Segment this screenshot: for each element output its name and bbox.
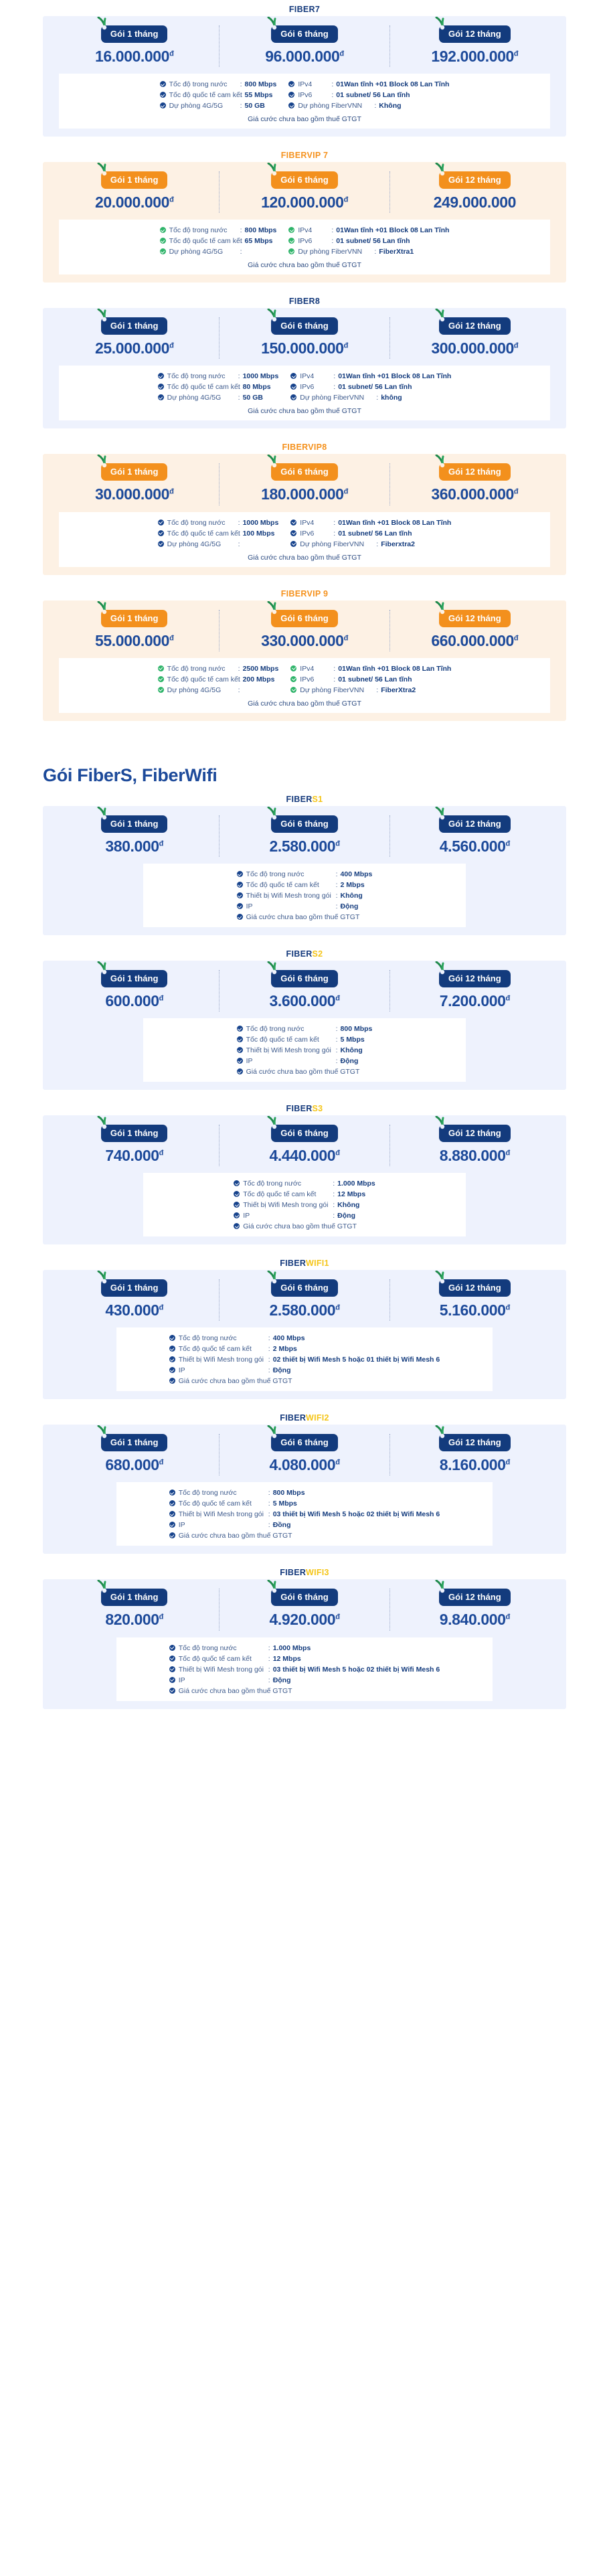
- price-row: Gói 1 tháng 600.000đ Gói 6 tháng 3.600.0…: [43, 967, 566, 1012]
- check-icon: [237, 1047, 243, 1053]
- plan-title-fibervip7: FIBERVIP 7: [0, 146, 609, 162]
- feature-separator: :: [370, 247, 379, 256]
- price-amount: 8.160.000đ: [440, 1457, 510, 1473]
- term-badge[interactable]: Gói 12 tháng: [439, 815, 511, 833]
- term-badge-wrap: Gói 6 tháng: [271, 610, 338, 627]
- feature-label: Dự phòng 4G/5G: [167, 393, 234, 402]
- plan-title-fiberwifi2: FIBERWIFI2: [0, 1408, 609, 1425]
- term-badge-wrap: Gói 12 tháng: [439, 25, 511, 43]
- feature-separator: :: [236, 226, 245, 235]
- check-icon: [158, 541, 164, 547]
- feature-value: 50 GB: [243, 393, 263, 402]
- feature-label: Giá cước chưa bao gồm thuế GTGT: [246, 1067, 360, 1076]
- feature-row: Tốc độ trong nước : 400 Mbps: [169, 1334, 440, 1343]
- currency-symbol: đ: [506, 1459, 510, 1467]
- price-amount: 600.000đ: [105, 993, 163, 1009]
- plan-section-fibers1: FIBERS1 Gói 1 tháng 380.000đ Gói 6 tháng…: [0, 790, 609, 935]
- check-icon: [237, 882, 243, 888]
- check-icon: [160, 92, 166, 98]
- feature-grid: Tốc độ trong nước : 400 Mbps Tốc độ quốc…: [116, 1334, 493, 1386]
- price-amount: 2.580.000đ: [269, 1302, 339, 1318]
- feature-row: Thiết bị Wifi Mesh trong gói : Không: [234, 1200, 375, 1210]
- price-amount: 180.000.000đ: [261, 486, 348, 502]
- feature-value: 800 Mbps: [341, 1024, 373, 1034]
- term-badge[interactable]: Gói 1 tháng: [101, 463, 168, 481]
- plan-title-suffix: S1: [313, 795, 323, 804]
- feature-value: 400 Mbps: [341, 870, 373, 879]
- feature-row: Tốc độ trong nước : 800 Mbps: [169, 1488, 440, 1498]
- term-badge-wrap: Gói 12 tháng: [439, 1125, 511, 1142]
- check-icon: [160, 238, 166, 244]
- feature-separator: :: [332, 891, 341, 900]
- feature-separator: :: [264, 1654, 273, 1664]
- price-amount: 4.920.000đ: [269, 1611, 339, 1627]
- price-amount: 330.000.000đ: [261, 633, 348, 649]
- price-amount: 249.000.000: [434, 194, 517, 210]
- term-badge-wrap: Gói 1 tháng: [101, 25, 168, 43]
- price-column-0: Gói 1 tháng 20.000.000đ: [50, 171, 219, 213]
- feature-separator: :: [234, 393, 243, 402]
- term-badge[interactable]: Gói 1 tháng: [101, 610, 168, 627]
- check-icon: [158, 687, 164, 693]
- price-column-2: Gói 12 tháng 360.000.000đ: [389, 463, 559, 505]
- feature-grid: Tốc độ trong nước : 400 Mbps Tốc độ quốc…: [143, 870, 466, 922]
- price-column-2: Gói 12 tháng 300.000.000đ: [389, 317, 559, 359]
- feature-col-right: IPv4 : 01Wan tĩnh +01 Block 08 Lan Tĩnh …: [290, 518, 451, 549]
- feature-separator: :: [234, 540, 243, 549]
- feature-row: Thiết bị Wifi Mesh trong gói : 03 thiết …: [169, 1665, 440, 1674]
- feature-label: Dự phòng FiberVNN: [298, 247, 370, 256]
- feature-label: Thiết bị Wifi Mesh trong gói: [246, 891, 332, 900]
- feature-separator: :: [332, 1046, 341, 1055]
- feature-label: Tốc độ trong nước: [169, 80, 236, 89]
- check-icon: [158, 530, 164, 536]
- feature-panel: Tốc độ trong nước : 1000 Mbps Tốc độ quố…: [59, 366, 550, 420]
- feature-separator: :: [234, 382, 243, 392]
- feature-separator: :: [236, 80, 245, 89]
- term-badge-wrap: Gói 6 tháng: [271, 815, 338, 833]
- feature-grid: Tốc độ trong nước : 1000 Mbps Tốc độ quố…: [59, 518, 550, 549]
- feature-label: Tốc độ quốc tế cam kết: [243, 1190, 329, 1199]
- feature-separator: :: [264, 1355, 273, 1364]
- feature-grid: Tốc độ trong nước : 1000 Mbps Tốc độ quố…: [59, 372, 550, 402]
- tax-note: Giá cước chưa bao gồm thuế GTGT: [59, 695, 550, 708]
- feature-value: 01Wan tĩnh +01 Block 08 Lan Tĩnh: [338, 372, 451, 381]
- check-icon: [234, 1202, 240, 1208]
- check-icon: [288, 102, 294, 108]
- price-amount: 5.160.000đ: [440, 1302, 510, 1318]
- currency-symbol: đ: [514, 634, 518, 642]
- price-amount: 30.000.000đ: [95, 486, 173, 502]
- price-column-1: Gói 6 tháng 2.580.000đ: [219, 1279, 389, 1321]
- term-badge[interactable]: Gói 12 tháng: [439, 1434, 511, 1451]
- plan-title-suffix: WIFI1: [306, 1259, 329, 1268]
- feature-row: IPv4 : 01Wan tĩnh +01 Block 08 Lan Tĩnh: [290, 372, 451, 381]
- feature-row: Tốc độ quốc tế cam kết : 12 Mbps: [234, 1190, 375, 1199]
- feature-panel: Tốc độ trong nước : 1000 Mbps Tốc độ quố…: [59, 512, 550, 567]
- tax-note: Giá cước chưa bao gồm thuế GTGT: [59, 402, 550, 415]
- price-row: Gói 1 tháng 30.000.000đ Gói 6 tháng 180.…: [43, 461, 566, 505]
- term-badge[interactable]: Gói 6 tháng: [271, 610, 338, 627]
- feature-value: 02 thiết bị Wifi Mesh 5 hoặc 01 thiết bị…: [273, 1355, 440, 1364]
- feature-label: IPv4: [300, 372, 329, 381]
- feature-row: IPv6 : 01 subnet/ 56 Lan tĩnh: [288, 90, 449, 100]
- currency-symbol: đ: [339, 50, 343, 58]
- term-badge[interactable]: Gói 1 tháng: [101, 171, 168, 189]
- feature-panel: Tốc độ trong nước : 800 Mbps Tốc độ quốc…: [59, 220, 550, 274]
- term-badge-wrap: Gói 1 tháng: [101, 1434, 168, 1451]
- feature-panel: Tốc độ trong nước : 1.000 Mbps Tốc độ qu…: [143, 1173, 466, 1236]
- feature-value: Động: [341, 902, 359, 911]
- check-icon: [237, 1058, 243, 1064]
- term-badge[interactable]: Gói 12 tháng: [439, 1589, 511, 1606]
- feature-row: Tốc độ quốc tế cam kết : 12 Mbps: [169, 1654, 440, 1664]
- feature-value: 01Wan tĩnh +01 Block 08 Lan Tĩnh: [338, 664, 451, 673]
- feature-label: Tốc độ quốc tế cam kết: [179, 1499, 264, 1508]
- feature-separator: :: [329, 1211, 337, 1220]
- term-badge-wrap: Gói 1 tháng: [101, 970, 168, 987]
- price-column-1: Gói 6 tháng 120.000.000đ: [219, 171, 389, 213]
- check-icon: [169, 1522, 175, 1528]
- price-amount: 9.840.000đ: [440, 1611, 510, 1627]
- currency-symbol: đ: [159, 1459, 163, 1467]
- term-badge-wrap: Gói 12 tháng: [439, 1279, 511, 1297]
- feature-row: Tốc độ trong nước : 800 Mbps: [160, 80, 277, 89]
- feature-value: 1.000 Mbps: [273, 1643, 311, 1653]
- check-icon: [290, 665, 296, 671]
- feature-row: IP : Động: [169, 1366, 440, 1375]
- term-badge-wrap: Gói 6 tháng: [271, 25, 338, 43]
- currency-symbol: đ: [506, 994, 510, 1002]
- term-badge[interactable]: Gói 12 tháng: [439, 171, 511, 189]
- feature-separator: :: [372, 393, 381, 402]
- currency-symbol: đ: [506, 1303, 510, 1311]
- feature-col-right: IPv4 : 01Wan tĩnh +01 Block 08 Lan Tĩnh …: [290, 372, 451, 402]
- feature-label: Giá cước chưa bao gồm thuế GTGT: [246, 912, 360, 922]
- feature-grid: Tốc độ trong nước : 1.000 Mbps Tốc độ qu…: [116, 1643, 493, 1696]
- feature-label: IPv4: [298, 80, 327, 89]
- currency-symbol: đ: [159, 1303, 163, 1311]
- price-column-1: Gói 6 tháng 96.000.000đ: [219, 25, 389, 67]
- feature-value: 400 Mbps: [273, 1334, 305, 1343]
- check-icon: [169, 1645, 175, 1651]
- term-badge[interactable]: Gói 1 tháng: [101, 25, 168, 43]
- feature-separator: :: [329, 382, 338, 392]
- currency-symbol: đ: [159, 1613, 163, 1621]
- feature-value: 2500 Mbps: [243, 664, 279, 673]
- check-icon: [237, 1068, 243, 1074]
- term-badge[interactable]: Gói 12 tháng: [439, 25, 511, 43]
- feature-label: Tốc độ quốc tế cam kết: [169, 90, 236, 100]
- feature-row: Tốc độ quốc tế cam kết : 5 Mbps: [169, 1499, 440, 1508]
- check-icon: [169, 1666, 175, 1672]
- feature-row: IP : Động: [234, 1211, 375, 1220]
- feature-separator: :: [372, 686, 381, 695]
- price-column-0: Gói 1 tháng 680.000đ: [50, 1434, 219, 1475]
- price-column-0: Gói 1 tháng 740.000đ: [50, 1125, 219, 1166]
- feature-separator: :: [264, 1499, 273, 1508]
- feature-label: IPv4: [300, 664, 329, 673]
- price-column-0: Gói 1 tháng 16.000.000đ: [50, 25, 219, 67]
- feature-row: IP : Đồng: [169, 1520, 440, 1530]
- feature-col-right: IPv4 : 01Wan tĩnh +01 Block 08 Lan Tĩnh …: [288, 80, 449, 110]
- feature-label: Dự phòng FiberVNN: [300, 540, 372, 549]
- feature-label: Giá cước chưa bao gồm thuế GTGT: [179, 1531, 292, 1540]
- currency-symbol: đ: [335, 839, 339, 848]
- term-badge[interactable]: Gói 6 tháng: [271, 1434, 338, 1451]
- price-amount: 300.000.000đ: [431, 340, 518, 356]
- feature-separator: :: [327, 236, 336, 246]
- feature-panel: Tốc độ trong nước : 400 Mbps Tốc độ quốc…: [116, 1327, 493, 1391]
- currency-symbol: đ: [169, 488, 173, 496]
- check-icon: [169, 1511, 175, 1517]
- price-column-1: Gói 6 tháng 4.080.000đ: [219, 1434, 389, 1475]
- term-badge[interactable]: Gói 12 tháng: [439, 970, 511, 987]
- feature-row: IPv6 : 01 subnet/ 56 Lan tĩnh: [288, 236, 449, 246]
- feature-col: Tốc độ trong nước : 1.000 Mbps Tốc độ qu…: [169, 1643, 440, 1696]
- plan-section-fibervip9: FIBERVIP 9 Gói 1 tháng 55.000.000đ Gói 6…: [0, 584, 609, 721]
- price-column-0: Gói 1 tháng 820.000đ: [50, 1589, 219, 1630]
- plan-section-fiberwifi2: FIBERWIFI2 Gói 1 tháng 680.000đ Gói 6 th…: [0, 1408, 609, 1554]
- plan-title-fibers1: FIBERS1: [0, 790, 609, 806]
- plan-title-fibers3: FIBERS3: [0, 1099, 609, 1115]
- price-column-2: Gói 12 tháng 7.200.000đ: [389, 970, 559, 1012]
- feature-panel: Tốc độ trong nước : 800 Mbps Tốc độ quốc…: [116, 1482, 493, 1546]
- feature-separator: :: [264, 1665, 273, 1674]
- term-badge[interactable]: Gói 6 tháng: [271, 25, 338, 43]
- feature-value: 01Wan tĩnh +01 Block 08 Lan Tĩnh: [336, 226, 449, 235]
- plan-card: Gói 1 tháng 25.000.000đ Gói 6 tháng 150.…: [43, 308, 566, 428]
- currency-symbol: đ: [169, 195, 173, 204]
- plan-title-fibers2: FIBERS2: [0, 945, 609, 961]
- feature-separator: :: [370, 101, 379, 110]
- feature-row: Tốc độ quốc tế cam kết : 65 Mbps: [160, 236, 277, 246]
- feature-separator: :: [234, 529, 243, 538]
- feature-row: Dự phòng FiberVNN : không: [290, 393, 451, 402]
- currency-symbol: đ: [506, 1149, 510, 1157]
- price-amount: 4.080.000đ: [269, 1457, 339, 1473]
- term-badge[interactable]: Gói 12 tháng: [439, 1279, 511, 1297]
- plan-section-fiber7: FIBER7 Gói 1 tháng 16.000.000đ Gói 6 thá…: [0, 0, 609, 137]
- check-icon: [288, 248, 294, 254]
- term-badge[interactable]: Gói 6 tháng: [271, 815, 338, 833]
- price-amount: 740.000đ: [105, 1147, 163, 1163]
- plan-section-fiber8: FIBER8 Gói 1 tháng 25.000.000đ Gói 6 thá…: [0, 292, 609, 428]
- feature-grid: Tốc độ trong nước : 800 Mbps Tốc độ quốc…: [143, 1024, 466, 1076]
- feature-value: 100 Mbps: [243, 529, 275, 538]
- plan-title-fiber8: FIBER8: [0, 292, 609, 308]
- price-amount: 360.000.000đ: [431, 486, 518, 502]
- term-badge[interactable]: Gói 6 tháng: [271, 1279, 338, 1297]
- plan-title-suffix: S2: [313, 949, 323, 959]
- price-column-2: Gói 12 tháng 8.880.000đ: [389, 1125, 559, 1166]
- feature-row: Tốc độ quốc tế cam kết : 5 Mbps: [237, 1035, 373, 1044]
- feature-separator: :: [234, 664, 243, 673]
- term-badge[interactable]: Gói 12 tháng: [439, 610, 511, 627]
- feature-label: Tốc độ quốc tế cam kết: [246, 1035, 332, 1044]
- feature-value: 12 Mbps: [337, 1190, 365, 1199]
- page-title-fibers-fiberwifi: Gói FiberS, FiberWifi: [0, 741, 609, 790]
- price-amount: 16.000.000đ: [95, 48, 173, 64]
- feature-label: Tốc độ trong nước: [246, 1024, 332, 1034]
- price-amount: 96.000.000đ: [265, 48, 343, 64]
- feature-label: Dự phòng 4G/5G: [167, 540, 234, 549]
- price-column-1: Gói 6 tháng 2.580.000đ: [219, 815, 389, 857]
- feature-separator: :: [332, 902, 341, 911]
- plan-card: Gói 1 tháng 600.000đ Gói 6 tháng 3.600.0…: [43, 961, 566, 1090]
- feature-row: Dự phòng FiberVNN : Fiberxtra2: [290, 540, 451, 549]
- feature-value: 65 Mbps: [245, 236, 273, 246]
- feature-label: Tốc độ trong nước: [243, 1179, 329, 1188]
- term-badge-wrap: Gói 1 tháng: [101, 1279, 168, 1297]
- price-column-1: Gói 6 tháng 330.000.000đ: [219, 610, 389, 651]
- price-row: Gói 1 tháng 740.000đ Gói 6 tháng 4.440.0…: [43, 1122, 566, 1166]
- term-badge-wrap: Gói 12 tháng: [439, 1434, 511, 1451]
- term-badge[interactable]: Gói 6 tháng: [271, 1589, 338, 1606]
- feature-label: Dự phòng 4G/5G: [167, 686, 234, 695]
- feature-value: 01Wan tĩnh +01 Block 08 Lan Tĩnh: [336, 80, 449, 89]
- feature-grid: Tốc độ trong nước : 800 Mbps Tốc độ quốc…: [59, 80, 550, 110]
- feature-separator: :: [234, 686, 243, 695]
- price-column-2: Gói 12 tháng 8.160.000đ: [389, 1434, 559, 1475]
- feature-row: Tốc độ trong nước : 800 Mbps: [160, 226, 277, 235]
- feature-separator: :: [332, 1024, 341, 1034]
- plan-card: Gói 1 tháng 16.000.000đ Gói 6 tháng 96.0…: [43, 16, 566, 137]
- term-badge[interactable]: Gói 12 tháng: [439, 317, 511, 335]
- feature-value: 1.000 Mbps: [337, 1179, 375, 1188]
- term-badge-wrap: Gói 6 tháng: [271, 1279, 338, 1297]
- currency-symbol: đ: [169, 50, 173, 58]
- price-row: Gói 1 tháng 25.000.000đ Gói 6 tháng 150.…: [43, 315, 566, 359]
- term-badge[interactable]: Gói 1 tháng: [101, 1125, 168, 1142]
- feature-col: Tốc độ trong nước : 800 Mbps Tốc độ quốc…: [237, 1024, 373, 1076]
- feature-row: IPv4 : 01Wan tĩnh +01 Block 08 Lan Tĩnh: [290, 664, 451, 673]
- feature-value: Không: [379, 101, 401, 110]
- feature-panel: Tốc độ trong nước : 1.000 Mbps Tốc độ qu…: [116, 1637, 493, 1701]
- feature-separator: :: [329, 675, 338, 684]
- feature-separator: :: [264, 1366, 273, 1375]
- term-badge[interactable]: Gói 6 tháng: [271, 1125, 338, 1142]
- term-badge[interactable]: Gói 1 tháng: [101, 970, 168, 987]
- currency-symbol: đ: [159, 1149, 163, 1157]
- feature-separator: :: [329, 1200, 337, 1210]
- feature-label: IPv4: [298, 226, 327, 235]
- feature-label: Dự phòng 4G/5G: [169, 101, 236, 110]
- check-icon: [169, 1335, 175, 1341]
- term-badge[interactable]: Gói 12 tháng: [439, 1125, 511, 1142]
- currency-symbol: đ: [159, 994, 163, 1002]
- feature-separator: :: [329, 518, 338, 528]
- price-column-0: Gói 1 tháng 30.000.000đ: [50, 463, 219, 505]
- term-badge[interactable]: Gói 6 tháng: [271, 463, 338, 481]
- feature-label: IPv6: [300, 529, 329, 538]
- check-icon: [158, 665, 164, 671]
- feature-label: Dự phòng FiberVNN: [298, 101, 370, 110]
- term-badge-wrap: Gói 12 tháng: [439, 815, 511, 833]
- feature-value: 12 Mbps: [273, 1654, 301, 1664]
- feature-row: Tốc độ trong nước : 400 Mbps: [237, 870, 373, 879]
- check-icon: [237, 871, 243, 877]
- term-badge[interactable]: Gói 12 tháng: [439, 463, 511, 481]
- price-column-2: Gói 12 tháng 5.160.000đ: [389, 1279, 559, 1321]
- currency-symbol: đ: [169, 342, 173, 350]
- price-column-0: Gói 1 tháng 380.000đ: [50, 815, 219, 857]
- feature-value: 200 Mbps: [243, 675, 275, 684]
- feature-row: Tốc độ trong nước : 1.000 Mbps: [234, 1179, 375, 1188]
- plan-title-suffix: S3: [313, 1104, 323, 1113]
- term-badge[interactable]: Gói 6 tháng: [271, 171, 338, 189]
- feature-value: 03 thiết bị Wifi Mesh 5 hoặc 02 thiết bị…: [273, 1665, 440, 1674]
- feature-label: Tốc độ trong nước: [167, 372, 234, 381]
- check-icon: [288, 227, 294, 233]
- plan-card: Gói 1 tháng 30.000.000đ Gói 6 tháng 180.…: [43, 454, 566, 574]
- tax-note: Giá cước chưa bao gồm thuế GTGT: [59, 256, 550, 269]
- feature-grid: Tốc độ trong nước : 800 Mbps Tốc độ quốc…: [116, 1488, 493, 1540]
- feature-row: Thiết bị Wifi Mesh trong gói : Không: [237, 1046, 373, 1055]
- check-icon: [169, 1356, 175, 1362]
- plan-card: Gói 1 tháng 55.000.000đ Gói 6 tháng 330.…: [43, 600, 566, 721]
- term-badge[interactable]: Gói 1 tháng: [101, 317, 168, 335]
- check-icon: [290, 541, 296, 547]
- feature-value: Fiberxtra2: [381, 540, 415, 549]
- feature-separator: :: [332, 870, 341, 879]
- feature-grid: Tốc độ trong nước : 800 Mbps Tốc độ quốc…: [59, 226, 550, 256]
- check-icon: [169, 1532, 175, 1538]
- price-amount: 20.000.000đ: [95, 194, 173, 210]
- check-icon: [237, 1036, 243, 1042]
- feature-row: Giá cước chưa bao gồm thuế GTGT: [169, 1531, 440, 1540]
- plan-title-suffix: WIFI3: [306, 1568, 329, 1577]
- term-badge[interactable]: Gói 6 tháng: [271, 317, 338, 335]
- plan-title-fibervip9: FIBERVIP 9: [0, 584, 609, 600]
- check-icon: [169, 1688, 175, 1694]
- term-badge[interactable]: Gói 1 tháng: [101, 1434, 168, 1451]
- feature-value: 01 subnet/ 56 Lan tĩnh: [336, 90, 410, 100]
- feature-panel: Tốc độ trong nước : 800 Mbps Tốc độ quốc…: [143, 1018, 466, 1082]
- term-badge-wrap: Gói 12 tháng: [439, 610, 511, 627]
- currency-symbol: đ: [344, 488, 348, 496]
- feature-label: Tốc độ trong nước: [179, 1334, 264, 1343]
- feature-row: Tốc độ trong nước : 1.000 Mbps: [169, 1643, 440, 1653]
- feature-separator: :: [329, 664, 338, 673]
- price-amount: 150.000.000đ: [261, 340, 348, 356]
- feature-label: IP: [246, 1056, 332, 1066]
- term-badge[interactable]: Gói 1 tháng: [101, 1589, 168, 1606]
- feature-separator: :: [327, 90, 336, 100]
- feature-value: 800 Mbps: [245, 80, 277, 89]
- feature-value: 01 subnet/ 56 Lan tĩnh: [338, 382, 412, 392]
- feature-row: Dự phòng FiberVNN : FiberXtra1: [288, 247, 449, 256]
- price-amount: 430.000đ: [105, 1302, 163, 1318]
- feature-row: Giá cước chưa bao gồm thuế GTGT: [237, 912, 373, 922]
- check-icon: [158, 384, 164, 390]
- feature-grid: Tốc độ trong nước : 1.000 Mbps Tốc độ qu…: [143, 1179, 466, 1231]
- plan-section-fiberwifi1: FIBERWIFI1 Gói 1 tháng 430.000đ Gói 6 th…: [0, 1254, 609, 1399]
- feature-value: Động: [273, 1366, 291, 1375]
- term-badge[interactable]: Gói 1 tháng: [101, 815, 168, 833]
- term-badge[interactable]: Gói 6 tháng: [271, 970, 338, 987]
- feature-label: IPv6: [300, 675, 329, 684]
- feature-label: Thiết bị Wifi Mesh trong gói: [179, 1355, 264, 1364]
- currency-symbol: đ: [335, 1459, 339, 1467]
- feature-value: Không: [337, 1200, 359, 1210]
- currency-symbol: đ: [335, 1303, 339, 1311]
- feature-row: Thiết bị Wifi Mesh trong gói : 02 thiết …: [169, 1355, 440, 1364]
- feature-separator: :: [234, 372, 243, 381]
- feature-value: 80 Mbps: [243, 382, 271, 392]
- feature-row: Tốc độ trong nước : 1000 Mbps: [158, 518, 279, 528]
- term-badge[interactable]: Gói 1 tháng: [101, 1279, 168, 1297]
